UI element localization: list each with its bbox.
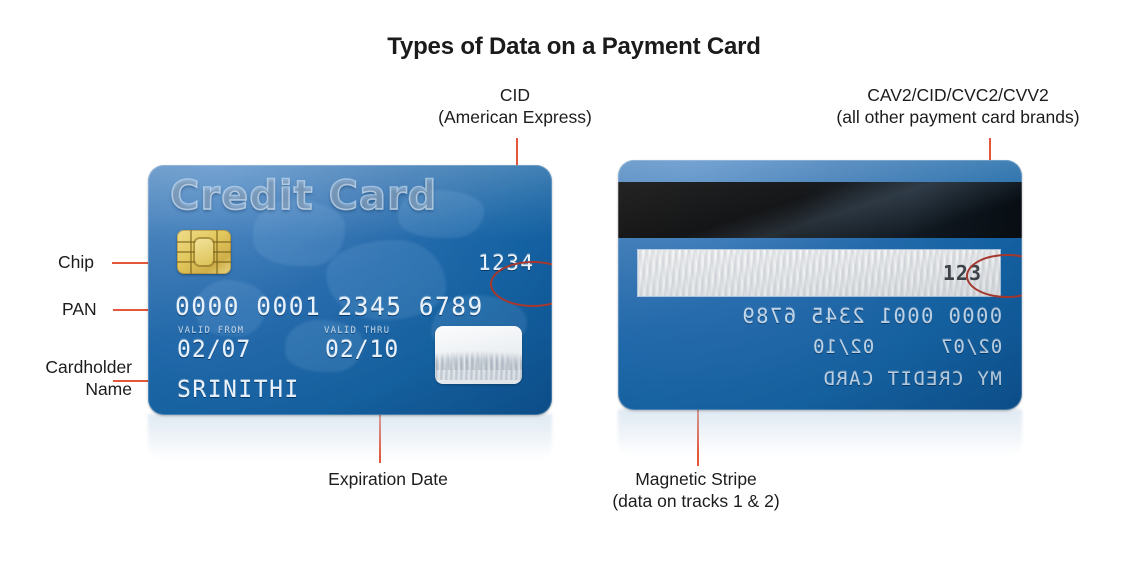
payment-card-front: Credit Card 0000 0001 2345 6789 VALID FR… bbox=[148, 165, 552, 415]
hologram-icon bbox=[435, 326, 522, 384]
chip-icon bbox=[177, 230, 231, 274]
annotation-magnetic-stripe: Magnetic Stripe (data on tracks 1 & 2) bbox=[598, 469, 794, 512]
annotation-pan: PAN bbox=[62, 299, 97, 321]
annotation-magnetic-stripe-line2: (data on tracks 1 & 2) bbox=[598, 491, 794, 513]
annotation-cvv-back-line2: (all other payment card brands) bbox=[808, 107, 1108, 129]
card-front-pan: 0000 0001 2345 6789 bbox=[175, 292, 484, 321]
annotation-cvv-back-line1: CAV2/CID/CVC2/CVV2 bbox=[867, 85, 1049, 105]
card-front-valid-thru: 02/10 bbox=[325, 337, 399, 363]
valid-from-label: VALID FROM bbox=[178, 326, 244, 336]
annotation-chip-label: Chip bbox=[58, 252, 94, 272]
annotation-expiration-date: Expiration Date bbox=[298, 469, 478, 491]
payment-card-back: 123 0000 0001 2345 6789 02/07 02/10 MY C… bbox=[618, 160, 1022, 410]
valid-thru-label: VALID THRU bbox=[324, 326, 390, 336]
annotation-pan-label: PAN bbox=[62, 299, 97, 319]
annotation-expiration-date-label: Expiration Date bbox=[328, 469, 448, 489]
annotation-cid-front-line1: CID bbox=[500, 85, 530, 105]
annotation-cvv-back: CAV2/CID/CVC2/CVV2 (all other payment ca… bbox=[808, 85, 1108, 128]
card-back-reflection bbox=[618, 409, 1022, 455]
annotation-magnetic-stripe-line1: Magnetic Stripe bbox=[635, 469, 757, 489]
annotation-cid-front: CID (American Express) bbox=[428, 85, 602, 128]
annotation-cid-front-line2: (American Express) bbox=[428, 107, 602, 129]
card-front-valid-from: 02/07 bbox=[177, 337, 251, 363]
card-front-reflection bbox=[148, 414, 552, 460]
page-title: Types of Data on a Payment Card bbox=[0, 33, 1148, 61]
card-front-cardholder-name: SRINITHI bbox=[177, 377, 300, 403]
card-brand-wordmark: Credit Card bbox=[170, 173, 437, 219]
annotation-chip: Chip bbox=[58, 252, 94, 274]
diagram-canvas: Types of Data on a Payment Card CID (Ame… bbox=[0, 0, 1148, 568]
card-back-sheen bbox=[618, 160, 1022, 410]
